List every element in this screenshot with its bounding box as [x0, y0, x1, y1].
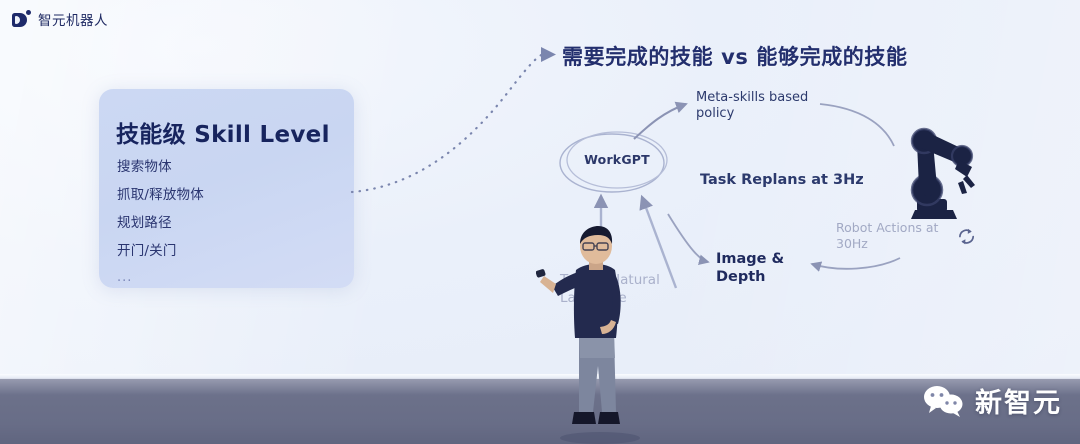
wechat-icon	[922, 384, 966, 418]
industrial-robot-arm-icon	[893, 107, 985, 225]
list-item: 抓取/释放物体	[117, 183, 204, 203]
brand-logo: 智元机器人	[12, 9, 108, 29]
slide-screenshot: 智元机器人 技能级 Skill Level 搜索物体 抓取/释放物体 规划路径 …	[0, 0, 1080, 444]
brand-name: 智元机器人	[38, 9, 108, 29]
agibot-d-mark-icon	[12, 10, 31, 29]
skill-level-card: 技能级 Skill Level 搜索物体 抓取/释放物体 规划路径 开门/关门 …	[99, 89, 354, 288]
list-item: 开门/关门	[117, 239, 204, 259]
list-item: 搜索物体	[117, 155, 204, 175]
channel-watermark: 新智元	[922, 381, 1062, 420]
label-meta-skills-policy: Meta-skills based policy	[696, 90, 816, 123]
watermark-text: 新智元	[975, 381, 1062, 420]
label-task-replans: Task Replans at 3Hz	[700, 171, 864, 189]
page-title: 需要完成的技能 vs 能够完成的技能	[562, 41, 908, 71]
workgpt-node-label: WorkGPT	[571, 152, 663, 168]
skill-card-list: 搜索物体 抓取/释放物体 规划路径 开门/关门 ...	[117, 155, 204, 285]
presenter-figure	[536, 226, 656, 444]
list-item-ellipsis: ...	[117, 267, 204, 285]
skill-card-title: 技能级 Skill Level	[116, 115, 330, 149]
label-image-depth: Image & Depth	[716, 250, 786, 286]
list-item: 规划路径	[117, 211, 204, 231]
